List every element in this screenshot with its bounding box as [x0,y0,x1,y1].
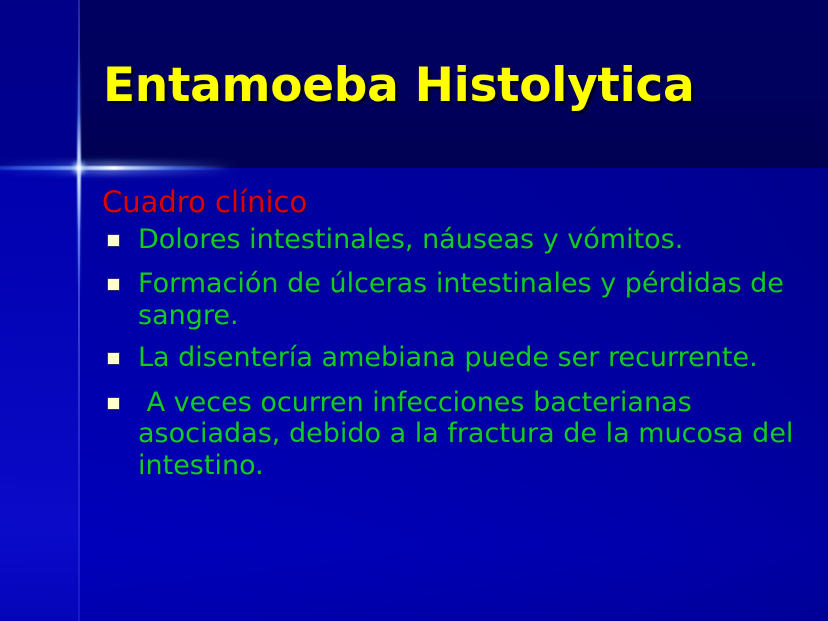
sparkle-horizontal-beam [0,166,229,170]
list-item: Formación de úlceras intestinales y pérd… [102,268,802,331]
slide-body: Cuadro clínico Dolores intestinales, náu… [102,186,802,487]
list-item-text: A veces ocurren infecciones bacterianas … [138,387,802,482]
presentation-slide: Entamoeba Histolytica Cuadro clínico Dol… [0,0,828,621]
slide-title: Entamoeba Histolytica [103,61,803,112]
sparkle-core [70,159,88,177]
left-accent-strip [0,0,80,621]
square-bullet-icon [108,398,119,409]
list-item: La disentería amebiana puede ser recurre… [102,342,802,374]
square-bullet-icon [108,353,119,364]
list-item: Dolores intestinales, náuseas y vómitos. [102,224,802,256]
list-item-text: Formación de úlceras intestinales y pérd… [138,268,802,331]
list-item-text: Dolores intestinales, náuseas y vómitos. [138,224,802,256]
title-container: Entamoeba Histolytica [103,61,803,112]
square-bullet-icon [108,279,119,290]
list-item: A veces ocurren infecciones bacterianas … [102,387,802,482]
list-item-text: La disentería amebiana puede ser recurre… [138,342,802,374]
square-bullet-icon [108,235,119,246]
section-subheading: Cuadro clínico [102,186,802,219]
bullet-list: Dolores intestinales, náuseas y vómitos.… [102,224,802,481]
